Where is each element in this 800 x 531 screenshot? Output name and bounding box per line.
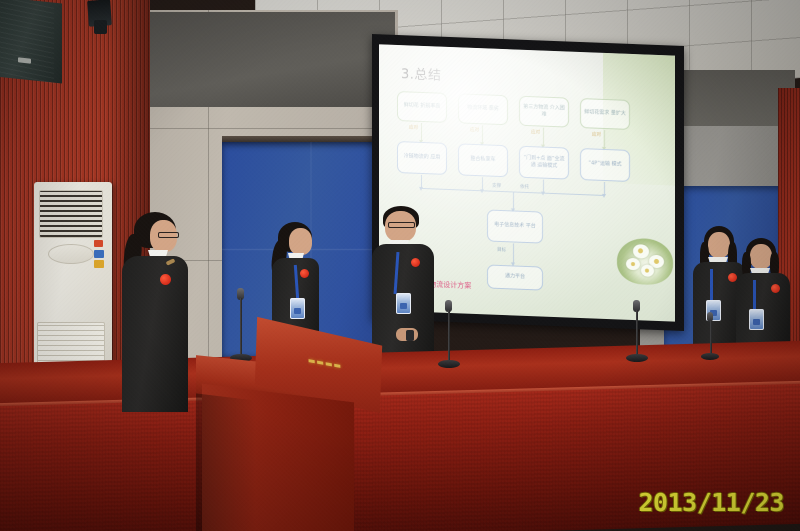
face (708, 232, 730, 258)
photo-scene: 3.总结 鲜切花 折损率高 物流环境 恶劣 第三方物流 介入困难 鲜切花需求 量… (0, 0, 800, 531)
projector-mount-arm (94, 20, 107, 34)
flower-center (654, 259, 659, 264)
person-presenter-left-woman (108, 212, 196, 412)
flow-label-support: 支撑 (492, 183, 501, 189)
flow-arrow-1 (421, 123, 422, 141)
flow-label-rely: 依托 (520, 184, 529, 190)
flow-node-center: 电子信息技术 平台 (487, 209, 543, 243)
id-badge (290, 298, 305, 319)
flow-arrow-center (513, 191, 514, 209)
flow-label-4: 应对 (592, 131, 601, 137)
corsage-flower (300, 269, 309, 278)
id-badge (749, 309, 764, 330)
flow-node-r1c4: 鲜切花需求 量扩大 (580, 98, 630, 130)
corsage-flower (411, 258, 420, 267)
lanyard (710, 269, 713, 301)
flower-center (631, 262, 635, 266)
flow-node-r1c2: 物流环境 恶劣 (458, 93, 508, 125)
flow-label-goal: 目标 (497, 247, 506, 253)
flower-center (645, 269, 649, 273)
lanyard (753, 280, 756, 310)
flow-arrow-bottom (513, 243, 514, 263)
face (289, 228, 312, 255)
slide-flower-graphic (617, 237, 673, 285)
ac-sticker-yellow (94, 260, 104, 268)
flow-drop-1 (421, 175, 422, 188)
eyeglasses (388, 222, 415, 228)
flow-node-r2c2: 整合私家车 (458, 143, 508, 177)
flow-node-r2c3: “门到+点 面”全流通 运输模式 (519, 146, 569, 180)
corsage-flower (160, 274, 171, 285)
camera-timestamp: 2013/11/23 (638, 488, 784, 517)
corsage-flower (771, 284, 780, 293)
flow-node-r1c1: 鲜切花 折损率高 (397, 91, 447, 123)
presenter-remote (406, 330, 414, 341)
flow-node-r2c4: “4P”运输 模式 (580, 148, 630, 182)
slide-title: 3.总结 (401, 63, 441, 84)
ceiling-speaker-box (0, 0, 62, 83)
id-badge (396, 293, 411, 314)
wall-acoustic-panel-dark (148, 12, 395, 107)
flow-label-3: 应对 (531, 129, 540, 135)
flow-node-r2c1: 冷链物流的 应用 (397, 141, 447, 175)
ac-logo (48, 244, 94, 264)
flow-arrow-2 (482, 125, 483, 143)
flow-label-2: 应对 (470, 127, 479, 133)
flow-drop-4 (604, 182, 605, 195)
face (750, 244, 772, 269)
flow-arrow-3 (543, 128, 544, 146)
eyeglasses (158, 232, 179, 238)
person-presenter-right-woman-b (736, 238, 798, 354)
ac-sticker-blue (94, 250, 104, 258)
flow-node-bottom: 通力平台 (487, 264, 543, 290)
flow-arrow-4 (604, 130, 605, 148)
flow-label-1: 应对 (409, 124, 418, 130)
podium-shadow (196, 393, 256, 531)
wall-seam (148, 128, 398, 129)
flow-drop-2 (482, 177, 483, 190)
flow-drop-3 (543, 180, 544, 193)
person-presenter-center-man (370, 206, 446, 366)
ac-sticker-red (94, 240, 103, 247)
flow-node-r1c3: 第三方物流 介入困难 (519, 96, 569, 128)
ac-upper-vent (39, 190, 103, 238)
flower-center (638, 248, 643, 253)
suit-jacket (122, 256, 188, 412)
podium-lectern: ▬▬▬▬ (196, 345, 376, 531)
speaker-grille (0, 0, 54, 84)
